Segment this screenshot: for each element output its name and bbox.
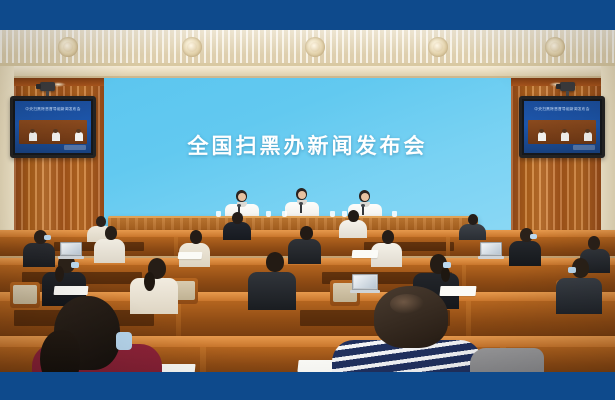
stage-lintel [8,66,607,78]
monitor-screen: 中央扫黑除恶督导组新闻发布会 [15,101,91,153]
screenshot-stage: 全国扫黑办新闻发布会 中央扫黑除恶督导组新闻发布会 中央扫黑除恶督导组新闻发布会 [0,0,615,400]
paper-document [439,286,476,296]
wall-cornice [0,30,615,66]
monitor-screen: 中央扫黑除恶督导组新闻发布会 [524,101,600,153]
led-screen-title: 全国扫黑办新闻发布会 [104,130,511,160]
letterbox-bar-bottom [0,372,615,400]
side-monitor-right: 中央扫黑除恶督导组新闻发布会 [519,96,605,158]
conference-room: 全国扫黑办新闻发布会 中央扫黑除恶督导组新闻发布会 中央扫黑除恶督导组新闻发布会 [0,30,615,372]
microphone-icon [362,206,364,215]
monitor-caption: 中央扫黑除恶督导组新闻发布会 [527,106,597,112]
wall-camera-icon [560,82,575,91]
paper-document [178,252,203,259]
chair[interactable] [10,282,40,308]
monitor-caption: 中央扫黑除恶督导组新闻发布会 [18,106,88,112]
cornice-medallion [545,37,565,57]
letterbox-bar-top [0,0,615,30]
cornice-medallion [428,37,448,57]
microphone-icon [300,204,302,213]
monitor-watermark [64,145,86,150]
cornice-medallion [182,37,202,57]
side-monitor-left: 中央扫黑除恶督导组新闻发布会 [10,96,96,158]
paper-document [54,286,89,295]
monitor-watermark [573,145,595,150]
paper-document [352,250,379,258]
cornice-medallion [305,37,325,57]
cornice-medallion [58,37,78,57]
wall-camera-icon [40,82,55,91]
